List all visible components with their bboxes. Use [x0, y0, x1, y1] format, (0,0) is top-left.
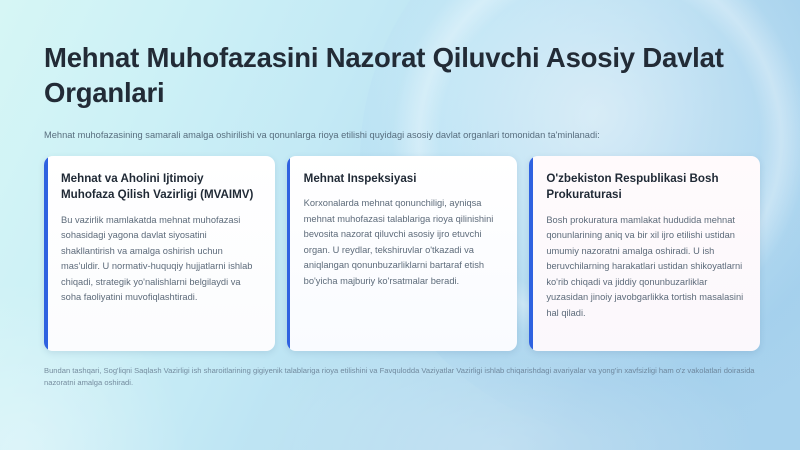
card-ministry-of-labor: Mehnat va Aholini Ijtimoiy Muhofaza Qili…	[44, 156, 275, 351]
slide-subtitle: Mehnat muhofazasining samarali amalga os…	[44, 129, 760, 142]
cards-row: Mehnat va Aholini Ijtimoiy Muhofaza Qili…	[44, 156, 760, 351]
card-title: Mehnat Inspeksiyasi	[304, 171, 502, 188]
card-labor-inspection: Mehnat Inspeksiyasi Korxonalarda mehnat …	[287, 156, 518, 351]
card-title: Mehnat va Aholini Ijtimoiy Muhofaza Qili…	[61, 171, 259, 204]
card-title: O'zbekiston Respublikasi Bosh Prokuratur…	[546, 171, 744, 204]
card-body: Bu vazirlik mamlakatda mehnat muhofazasi…	[61, 213, 259, 306]
card-accent-bar	[529, 156, 533, 351]
page-title: Mehnat Muhofazasini Nazorat Qiluvchi Aso…	[44, 40, 760, 110]
slide-canvas: Mehnat Muhofazasini Nazorat Qiluvchi Aso…	[0, 0, 800, 450]
card-accent-bar	[44, 156, 48, 351]
card-body: Korxonalarda mehnat qonunchiligi, ayniqs…	[304, 196, 502, 289]
slide-content: Mehnat Muhofazasini Nazorat Qiluvchi Aso…	[0, 0, 800, 450]
card-accent-bar	[287, 156, 291, 351]
card-body: Bosh prokuratura mamlakat hududida mehna…	[546, 213, 744, 321]
slide-footnote: Bundan tashqari, Sog'liqni Saqlash Vazir…	[44, 365, 760, 390]
card-prosecutor-general: O'zbekiston Respublikasi Bosh Prokuratur…	[529, 156, 760, 351]
